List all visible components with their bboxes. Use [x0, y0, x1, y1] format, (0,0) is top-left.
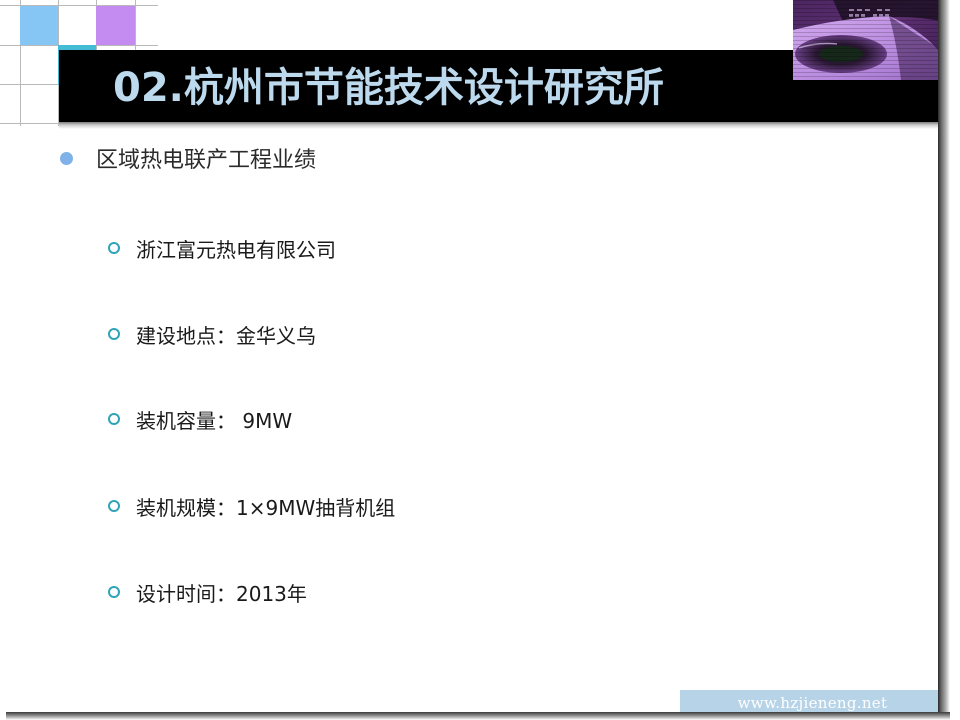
page-shadow-right	[938, 0, 950, 712]
hollow-circle-bullet-icon	[108, 586, 120, 598]
list-item: 装机规模：1×9MW抽背机组	[108, 492, 868, 522]
list-item: 建设地点：金华义乌	[108, 320, 868, 350]
hollow-circle-bullet-icon	[108, 242, 120, 254]
bullet-heading-label: 区域热电联产工程业绩	[96, 142, 316, 174]
slide-canvas: 02.杭州市节能技术设计研究所	[0, 0, 960, 720]
list-item: 浙江富元热电有限公司	[108, 234, 868, 264]
decor-square-purple	[96, 6, 135, 45]
list-item-label: 装机容量： 9MW	[136, 405, 292, 434]
grid-line-vertical	[135, 0, 136, 50]
abstract-purple-disc-photo	[793, 0, 945, 80]
hollow-circle-bullet-icon	[108, 413, 120, 425]
list-item-label: 设计时间：2013年	[136, 578, 307, 607]
list-item: 装机容量： 9MW	[108, 405, 868, 435]
list-item-label: 建设地点：金华义乌	[136, 320, 316, 349]
list-item: 设计时间：2013年	[108, 578, 868, 608]
filled-circle-bullet-icon	[60, 152, 73, 165]
title-band-shadow	[59, 122, 949, 129]
decor-square-blue	[20, 6, 58, 45]
photo-artwork	[793, 0, 945, 80]
page-shadow-bottom	[6, 712, 950, 720]
bullet-heading: 区域热电联产工程业绩	[60, 142, 760, 174]
list-item-label: 浙江富元热电有限公司	[136, 234, 336, 263]
hollow-circle-bullet-icon	[108, 328, 120, 340]
hollow-circle-bullet-icon	[108, 500, 120, 512]
list-item-label: 装机规模：1×9MW抽背机组	[136, 492, 395, 521]
